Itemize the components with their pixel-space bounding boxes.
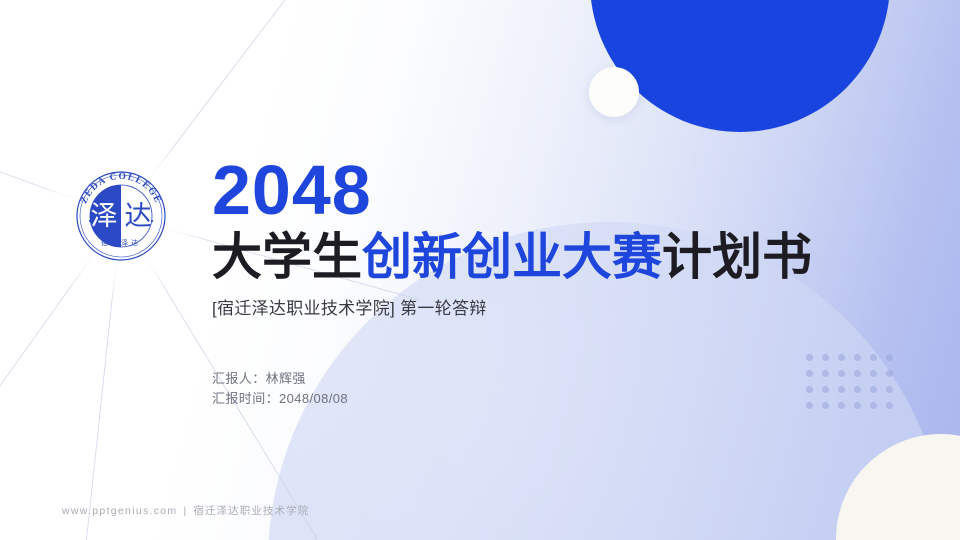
- presenter-info: 汇报人：林辉强 汇报时间：2048/08/08: [212, 369, 348, 409]
- headline: 大学生创新创业大赛计划书: [212, 229, 872, 285]
- white-accent-circle: [589, 67, 639, 117]
- footer-organization: 宿迁泽达职业技术学院: [193, 505, 309, 517]
- footer-website: www.pptgenius.com: [62, 505, 177, 517]
- headline-part-2-accent: 创新创业大赛: [362, 229, 662, 285]
- footer-separator: |: [183, 505, 187, 517]
- headline-part-1: 大学生: [212, 229, 362, 285]
- presentation-date: 汇报时间：2048/08/08: [212, 389, 348, 409]
- presenter-name: 汇报人：林辉强: [212, 369, 348, 389]
- college-logo: ZEDA COLLEGE 泽 达 宿迁泽达: [68, 163, 174, 269]
- logo-bottom-text: 宿迁泽达: [101, 238, 141, 247]
- cream-corner-circle: [836, 434, 960, 540]
- year-title: 2048: [212, 155, 872, 225]
- presentation-slide: ZEDA COLLEGE 泽 达 宿迁泽达 2048 大学生创新创业大赛计划书 …: [0, 0, 960, 540]
- logo-character-ze: 泽: [91, 201, 118, 231]
- title-block: 2048 大学生创新创业大赛计划书 [宿迁泽达职业技术学院] 第一轮答辩: [212, 155, 872, 320]
- headline-part-3: 计划书: [662, 229, 812, 285]
- blue-corner-circle: [590, 0, 890, 132]
- subtitle: [宿迁泽达职业技术学院] 第一轮答辩: [212, 298, 872, 320]
- logo-character-da: 达: [125, 201, 152, 231]
- dot-grid-decoration: [806, 354, 902, 418]
- footer: www.pptgenius.com|宿迁泽达职业技术学院: [62, 503, 309, 518]
